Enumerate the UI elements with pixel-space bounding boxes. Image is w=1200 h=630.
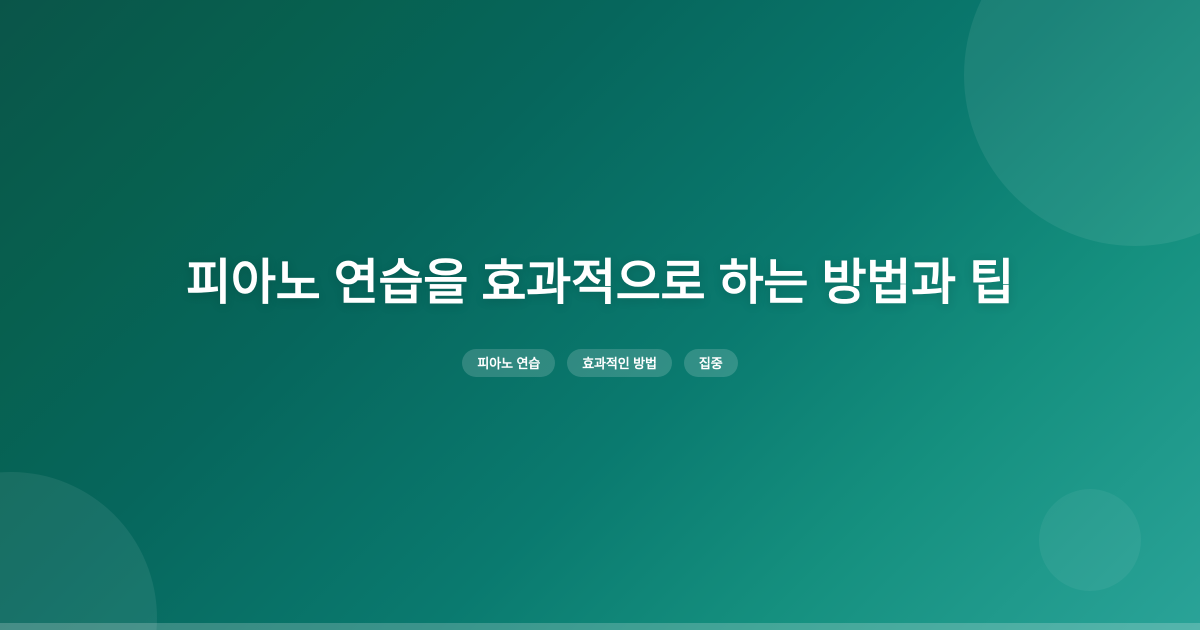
tag-pill-1[interactable]: 피아노 연습 bbox=[462, 349, 555, 377]
og-card: 피아노 연습을 효과적으로 하는 방법과 팁 피아노 연습 효과적인 방법 집중 bbox=[0, 0, 1200, 630]
tag-pill-2[interactable]: 효과적인 방법 bbox=[567, 349, 672, 377]
page-title: 피아노 연습을 효과적으로 하는 방법과 팁 bbox=[186, 253, 1014, 314]
tag-pill-3[interactable]: 집중 bbox=[684, 349, 738, 377]
tag-list: 피아노 연습 효과적인 방법 집중 bbox=[462, 349, 737, 377]
bottom-accent-strip bbox=[0, 623, 1200, 630]
card-content: 피아노 연습을 효과적으로 하는 방법과 팁 피아노 연습 효과적인 방법 집중 bbox=[0, 0, 1200, 630]
